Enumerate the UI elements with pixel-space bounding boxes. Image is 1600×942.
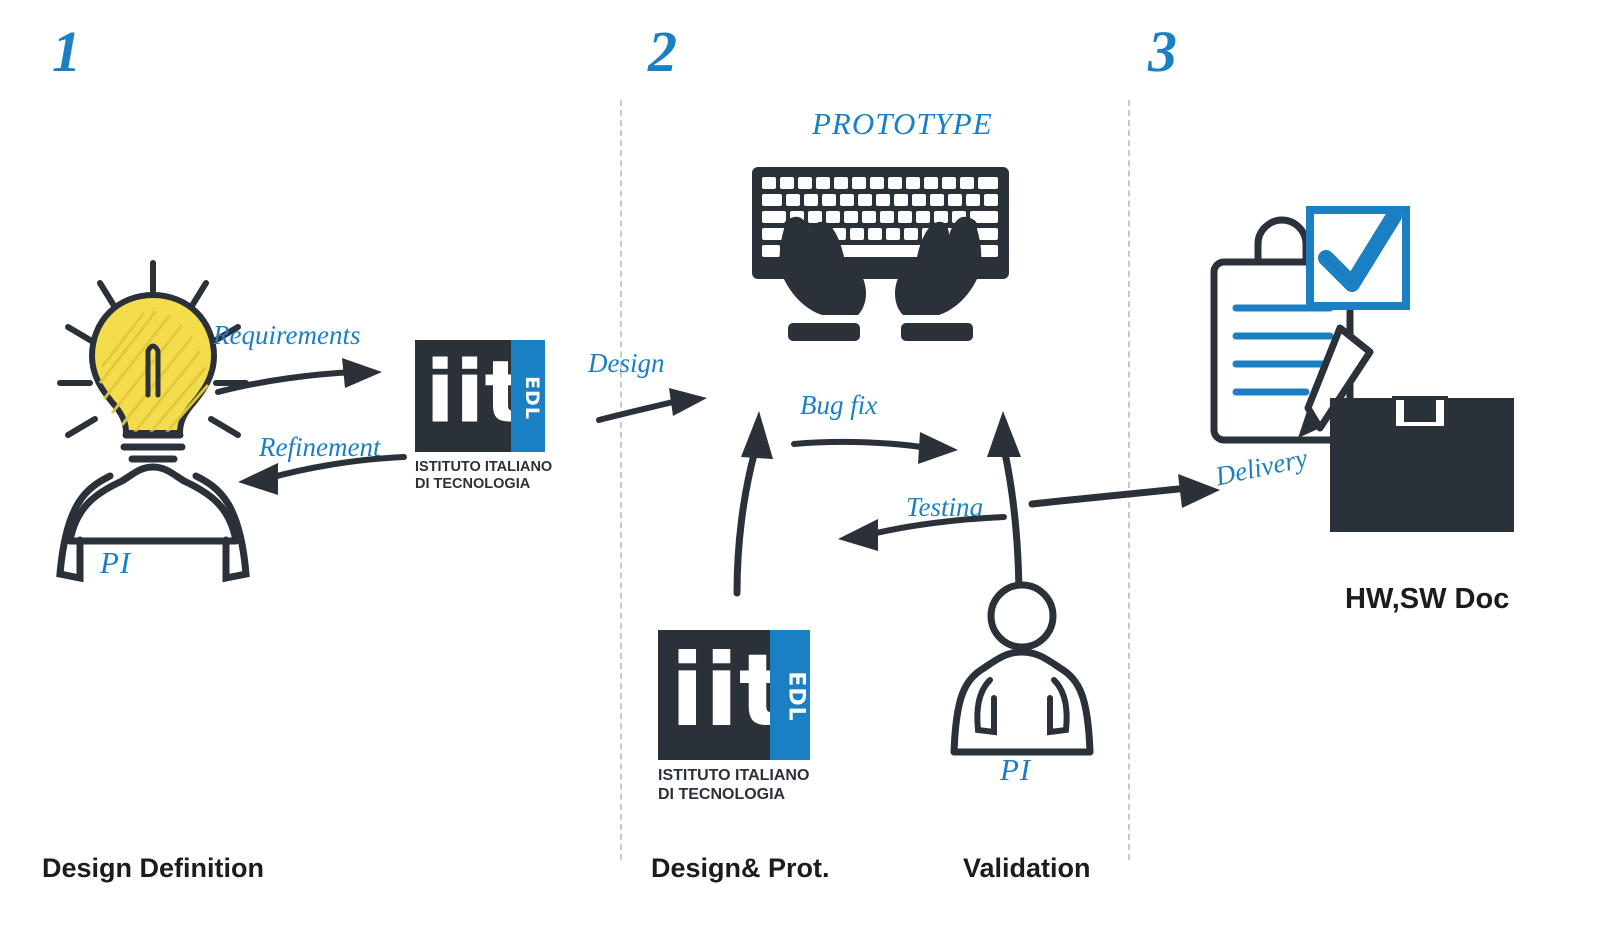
iit-logo-subtitle-line1-bottom: ISTITUTO ITALIANO [658,767,868,786]
stage-number-1: 1 [52,18,80,85]
phase-label-validation: Validation [963,853,1091,884]
prototype-label: PROTOTYPE [812,106,993,142]
iit-logo-subtitle-line2-bottom: DI TECNOLOGIA [658,786,868,805]
iit-logo-subtitle-line1-top: ISTITUTO ITALIANO [415,459,615,476]
requirements-label: Requirements [213,320,360,351]
phase-label-design-definition: Design Definition [42,853,264,884]
phase-separator-1 [620,100,622,860]
deliverables-icon-group [1198,200,1538,550]
package-box-icon [1330,398,1514,532]
arrow-icon-design-up [715,405,785,595]
arrow-icon-refinement [208,435,408,495]
person-icon-validation [950,580,1095,755]
checkmark-box-icon [1310,210,1406,306]
design-label: Design [588,348,665,379]
iit-logo-subtitle-line2-top: DI TECNOLOGIA [415,476,615,493]
pi-label-left: PI [100,545,131,581]
iit-logo-bottom: iit EDL ISTITUTO ITALIANO DI TECNOLOGIA [658,630,868,805]
keyboard-typing-hands-icon [748,165,1013,355]
arrow-icon-bug-fix [790,420,970,470]
arrow-icon-testing [818,495,1008,550]
stage-number-2: 2 [648,18,676,85]
iit-logo-edl-bottom: EDL [783,671,808,721]
pi-label-right: PI [1000,752,1031,788]
arrow-icon-requirements [214,358,394,408]
iit-logo-edl-top: EDL [521,376,543,420]
stage-number-3: 3 [1148,18,1176,85]
arrow-icon-design [595,386,715,431]
iit-logo-top: iit EDL ISTITUTO ITALIANO DI TECNOLOGIA [415,340,615,493]
bug-fix-label: Bug fix [800,390,877,421]
phase-label-design-and-prot: Design& Prot. [651,853,830,884]
diagram-canvas: 1 2 3 [0,0,1600,942]
hw-sw-doc-label: HW,SW Doc [1345,583,1509,616]
